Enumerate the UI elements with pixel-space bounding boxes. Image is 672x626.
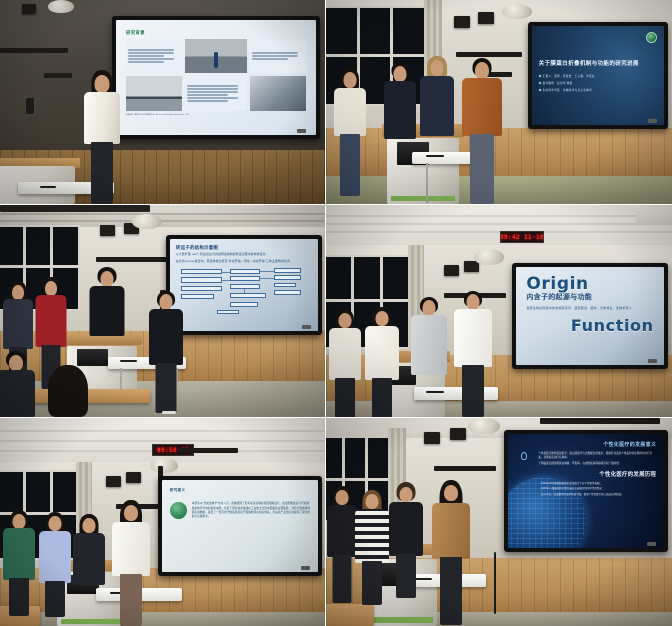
student: [332, 68, 368, 196]
student: [418, 56, 456, 140]
presenter: [78, 70, 126, 204]
tv-screen: 关于膜蛋白折叠机制与功能的研究进展 汇报人：张明、陈佳怡、王子涵、李思远 指导教…: [532, 26, 664, 125]
legs: [91, 142, 113, 204]
green-badge-icon: [170, 502, 187, 519]
lightbulb-icon: [521, 452, 527, 460]
ceiling-dome-light: [502, 4, 532, 19]
smart-tv[interactable]: 研究背景: [112, 16, 320, 139]
slide-photo: [250, 76, 306, 111]
classroom-scene: 个性化医疗的发展意义 个性化医疗依托基因组学、蛋白质组学与大数据分析技术，能够针…: [326, 418, 672, 626]
ceiling-dome-light: [468, 418, 500, 434]
student: [364, 307, 400, 415]
smart-tv[interactable]: Origin 内含子的起源与功能 真核生物基因组中的非编码序列：起源假说、结构、…: [512, 263, 668, 369]
presentation-slide: 个性化医疗的发展意义 个性化医疗依托基因组学、蛋白质组学与大数据分析技术，能够针…: [508, 434, 664, 548]
slide-body-line: 近十年来，高通量测序成本快速下降，推动个性化医疗进入临床应用阶段。: [541, 493, 656, 497]
ceiling-speaker-icon: [454, 16, 470, 28]
wall-bar: [434, 466, 496, 471]
tv-screen: 研究意义 本研究以“合成生物学”为切入点，系统梳理了近年来该领域在基因线路设计、…: [162, 480, 318, 572]
lectern-accent-strip: [391, 196, 455, 202]
classroom-scene: 关于膜蛋白折叠机制与功能的研究进展 汇报人：张明、陈佳怡、王子涵、李思远 指导教…: [326, 0, 672, 204]
wall-bar: [0, 205, 150, 212]
photo-middle-right: 09:42 11·18 Origin 内含子的起源与功能 真核生物基因组中的非编…: [326, 205, 672, 417]
ceiling-speaker-icon: [444, 265, 459, 276]
list-item: 生命科学学院 · 生物化学与分子生物学: [539, 88, 658, 92]
slide-subtitle: 以大肠杆菌 LacY 转运蛋白为例说明底物跨膜转运过程中的构象变化: [176, 252, 312, 256]
slide-note: 在交替access模型中，转运体依次经历“外向开放—闭塞—内向开放”三种主要构象…: [176, 259, 312, 263]
slide-title: 研究背景: [126, 30, 306, 36]
presenter-gesturing: [452, 291, 494, 417]
student: [354, 490, 390, 606]
slide-text-block: [126, 39, 182, 74]
list-item: 汇报人：张明、陈佳怡、王子涵、李思远: [539, 74, 658, 78]
wall-bar: [540, 418, 660, 424]
ceiling-speaker-icon: [450, 428, 466, 440]
tv-brand-logo: [647, 542, 656, 546]
presenter: [460, 58, 504, 204]
student: [88, 267, 126, 337]
wall-bar: [96, 257, 168, 262]
presenter: [110, 500, 152, 626]
slide-text-block: [185, 76, 247, 111]
smart-tv[interactable]: 研究意义 本研究以“合成生物学”为切入点，系统梳理了近年来该领域在基因线路设计、…: [158, 476, 322, 576]
ceiling-speaker-icon: [22, 4, 36, 14]
smart-tv[interactable]: 个性化医疗的发展意义 个性化医疗依托基因组学、蛋白质组学与大数据分析技术，能够针…: [504, 430, 668, 552]
slide-title-cn: 内含子的起源与功能: [526, 294, 653, 303]
wall-bar: [26, 98, 34, 114]
student: [410, 297, 448, 377]
tv-screen: Origin 内含子的起源与功能 真核生物基因组中的非编码序列：起源假说、结构、…: [516, 267, 664, 365]
bullet-marker-icon: [538, 82, 541, 85]
bullet-label: 指导教师：赵文华 教授: [543, 81, 573, 85]
lectern-accent-strip: [371, 617, 433, 623]
student: [38, 512, 72, 616]
power-cable: [494, 552, 496, 614]
lectern: [0, 158, 80, 204]
presentation-slide: 研究意义 本研究以“合成生物学”为切入点，系统梳理了近年来该领域在基因线路设计、…: [162, 480, 318, 572]
tv-screen: 个性化医疗的发展意义 个性化医疗依托基因组学、蛋白质组学与大数据分析技术，能够针…: [508, 434, 664, 548]
list-item: 指导教师：赵文华 教授: [539, 81, 658, 85]
tv-brand-logo: [302, 325, 311, 329]
wall-bar: [0, 48, 68, 53]
ceiling-dome-light: [48, 0, 74, 13]
student: [2, 510, 36, 614]
classroom-scene: 研究背景: [0, 0, 325, 204]
slide-body-line: 2003年人类基因组计划完成标志着基因测序时代的到来；: [541, 487, 656, 491]
led-clock-display: 09:42 11·18: [500, 231, 544, 243]
student: [72, 514, 106, 586]
tv-brand-logo: [648, 119, 657, 123]
photo-bottom-right: 个性化医疗的发展意义 个性化医疗依托基因组学、蛋白质组学与大数据分析技术，能够针…: [326, 418, 672, 626]
tv-screen: 研究背景: [116, 20, 316, 135]
marker-pen: [426, 155, 444, 157]
presenter-pointing: [146, 291, 186, 415]
presentation-slide: Origin 内含子的起源与功能 真核生物基因组中的非编码序列：起源假说、结构、…: [516, 267, 664, 365]
presentation-slide: 研究背景: [116, 20, 316, 135]
slide-title: 转运子的结构示意图: [176, 245, 312, 251]
slide-body-line: 1953年DNA双螺旋结构的发现奠定了分子生物学基础；: [541, 482, 656, 486]
slide-photo: [126, 76, 182, 111]
marker-pen: [426, 391, 444, 393]
slide-title: 研究意义: [170, 488, 310, 492]
marker-pen: [120, 360, 137, 362]
lectern-control-screen[interactable]: [77, 349, 108, 366]
photo-middle-left: 转运子的结构示意图 以大肠杆菌 LacY 转运蛋白为例说明底物跨膜转运过程中的构…: [0, 205, 325, 417]
marker-pen: [40, 186, 56, 188]
ceiling-speaker-icon: [478, 12, 494, 24]
slide-content-grid: [126, 39, 306, 111]
torso: [84, 92, 120, 144]
wall-bar: [178, 448, 238, 453]
ceiling-speaker-icon: [100, 225, 115, 236]
slide-footnote: 数据来源：课题组 2024 年度调研汇总 / Source: research …: [126, 114, 306, 116]
student: [328, 309, 362, 417]
classroom-scene: 转运子的结构示意图 以大肠杆菌 LacY 转运蛋白为例说明底物跨膜转运过程中的构…: [0, 205, 325, 417]
photo-top-right: 关于膜蛋白折叠机制与功能的研究进展 汇报人：张明、陈佳怡、王子涵、李思远 指导教…: [326, 0, 672, 204]
school-emblem-icon: [646, 32, 657, 43]
slide-word-function: Function: [526, 318, 653, 334]
presenter: [430, 480, 472, 626]
smart-tv[interactable]: 转运子的结构示意图 以大肠杆菌 LacY 转运蛋白为例说明底物跨膜转运过程中的构…: [166, 235, 322, 335]
ceiling-speaker-icon: [126, 472, 141, 483]
slide-paragraph: 本研究以“合成生物学”为切入点，系统梳理了近年来该领域在基因线路设计、底盘细胞改…: [192, 502, 310, 519]
slide-body-line: 下游临床实践表明其在肿瘤、罕见病、心血管疾病等领域具有广阔前景。: [538, 462, 656, 466]
flowchart-diagram: [176, 266, 312, 319]
seated-audience: [0, 351, 36, 417]
photo-collage: 研究背景: [0, 0, 672, 626]
bullet-marker-icon: [538, 75, 541, 78]
led-clock-text: 09:42 11·18: [500, 234, 544, 241]
student: [382, 62, 418, 142]
presentation-slide: 转运子的结构示意图 以大肠杆菌 LacY 转运蛋白为例说明底物跨膜转运过程中的构…: [170, 239, 318, 331]
classroom-scene: 09:58 11 研究意义 本研究以“合成生物学”为切入点，系统梳理了近年来该领…: [0, 418, 325, 626]
seated-audience: [42, 365, 94, 417]
bullet-label: 汇报人：张明、陈佳怡、王子涵、李思远: [543, 74, 595, 78]
tv-brand-logo: [648, 359, 657, 363]
classroom-scene: 09:42 11·18 Origin 内含子的起源与功能 真核生物基因组中的非编…: [326, 205, 672, 417]
bullet-marker-icon: [538, 89, 541, 92]
presentation-slide: 关于膜蛋白折叠机制与功能的研究进展 汇报人：张明、陈佳怡、王子涵、李思远 指导教…: [532, 26, 664, 125]
ceiling-speaker-icon: [424, 432, 440, 444]
photo-top-left: 研究背景: [0, 0, 325, 204]
slide-word-origin: Origin: [526, 276, 653, 293]
ceiling-speaker-icon: [106, 476, 121, 487]
slide-subtitle-cn: 真核生物基因组中的非编码序列：起源假说、结构、分类特征、生物学意义: [526, 306, 653, 311]
slide-text-block: [250, 39, 306, 74]
slide-body-line: 个性化医疗依托基因组学、蛋白质组学与大数据分析技术，能够针对患者个体差异制定精准…: [538, 452, 656, 460]
smart-tv[interactable]: 关于膜蛋白折叠机制与功能的研究进展 汇报人：张明、陈佳怡、王子涵、李思远 指导教…: [528, 22, 668, 129]
slide-photo: [185, 39, 247, 74]
ceiling-dome-light: [150, 458, 178, 473]
ceiling: [326, 205, 672, 245]
student: [388, 482, 424, 598]
ceiling-dome-light: [132, 214, 162, 229]
head: [95, 75, 110, 93]
lectern-body: [387, 138, 459, 204]
ac-unit: [636, 207, 672, 223]
tv-brand-logo: [301, 566, 310, 570]
tv-screen: 转运子的结构示意图 以大肠杆菌 LacY 转运蛋白为例说明底物跨膜转运过程中的构…: [170, 239, 318, 331]
audience-desk: [326, 604, 374, 626]
wall-bar: [456, 52, 522, 57]
slide-heading-1: 个性化医疗的发展意义: [516, 442, 656, 448]
tv-brand-logo: [297, 129, 306, 133]
slide-heading-2: 个性化医疗的发展历程: [516, 472, 656, 479]
slide-title: 关于膜蛋白折叠机制与功能的研究进展: [539, 61, 658, 68]
ceiling-dome-light: [474, 249, 504, 265]
slide-bullet-list: 汇报人：张明、陈佳怡、王子涵、李思远 指导教师：赵文华 教授 生命科学学院 · …: [539, 74, 658, 92]
wall-bar: [44, 73, 72, 78]
photo-bottom-left: 09:58 11 研究意义 本研究以“合成生物学”为切入点，系统梳理了近年来该领…: [0, 418, 325, 626]
bullet-label: 生命科学学院 · 生物化学与分子生物学: [543, 88, 593, 92]
